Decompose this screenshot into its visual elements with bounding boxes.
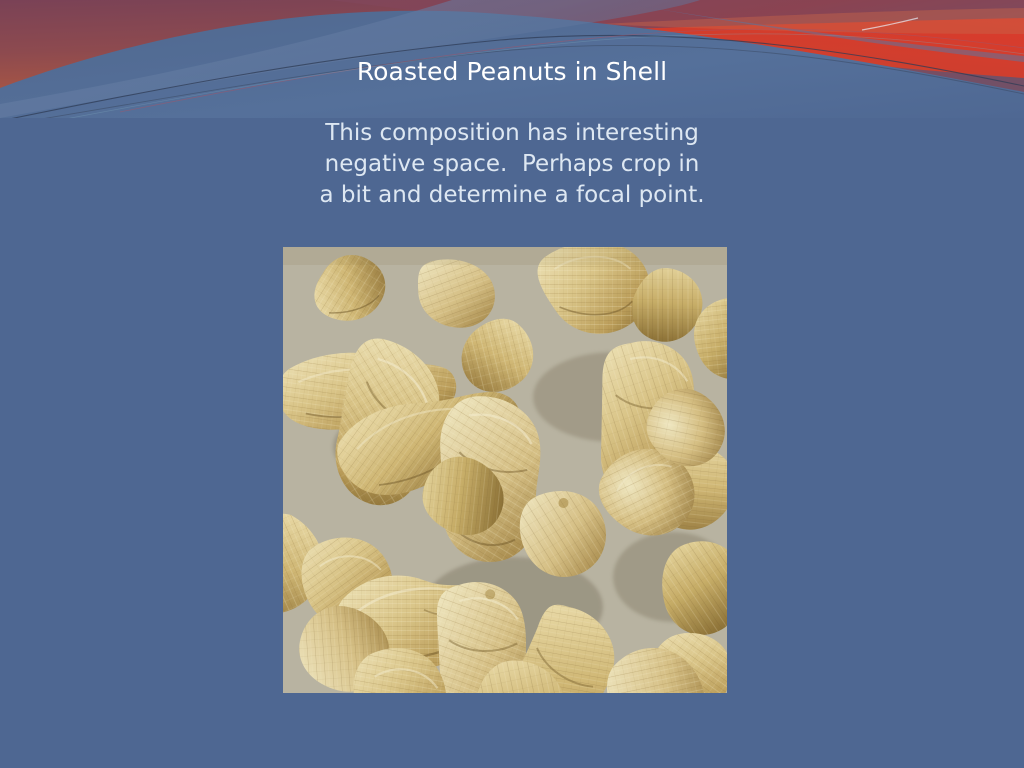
title-container: Roasted Peanuts in Shell (0, 58, 1024, 86)
page-title: Roasted Peanuts in Shell (357, 58, 667, 86)
body-text-container: This composition has interesting negativ… (262, 118, 762, 211)
roasted-peanuts-photo-icon (283, 247, 727, 693)
presentation-slide: Roasted Peanuts in Shell This compositio… (0, 0, 1024, 768)
peanuts-photo (283, 247, 727, 693)
body-line-3: a bit and determine a focal point. (262, 180, 762, 211)
body-line-1: This composition has interesting (262, 118, 762, 149)
body-line-2: negative space. Perhaps crop in (262, 149, 762, 180)
